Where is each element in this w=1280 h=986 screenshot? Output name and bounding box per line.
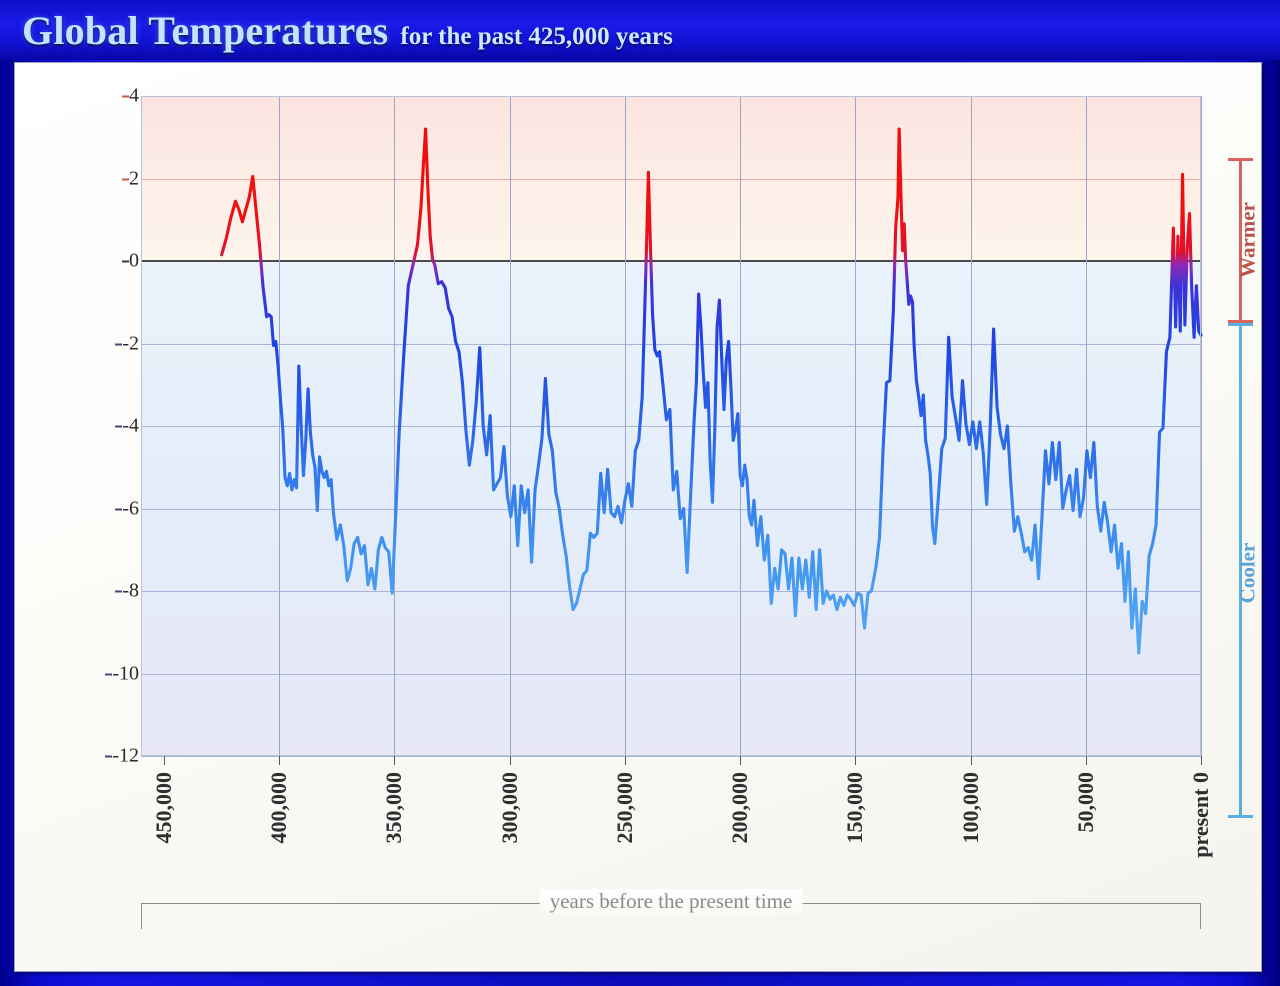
title-main-text: Global Temperatures <box>22 7 388 54</box>
title-subtitle-text: for the past 425,000 years <box>400 23 672 51</box>
gridline-x-0 <box>1201 96 1202 756</box>
window-frame: Global Temperatures for the past 425,000… <box>0 0 1280 986</box>
y-tick-label--6: -6 <box>122 497 139 520</box>
x-tick-label-200000: 200,000 <box>727 772 753 844</box>
x-tick-label-100000: 100,000 <box>958 772 984 844</box>
x-tick-label-450000: 450,000 <box>151 772 177 844</box>
cooler-bracket: Cooler <box>1239 323 1242 818</box>
cooler-label: Cooler <box>1236 543 1261 604</box>
gridline-y--12 <box>141 756 1201 757</box>
y-tick-label--4: -4 <box>122 415 139 438</box>
y-tick-mark--4 <box>115 426 122 428</box>
temperature-line-series <box>141 96 1201 756</box>
y-tick-mark--2 <box>115 343 122 345</box>
x-tick-label-400000: 400,000 <box>266 772 292 844</box>
y-tick-mark--6 <box>115 508 122 510</box>
chart-panel: Temperature variation from the 1961 – 19… <box>14 62 1262 972</box>
y-tick-label--8: -8 <box>122 580 139 603</box>
x-tick-mark-400000 <box>279 756 280 765</box>
warmer-bracket-top-cap <box>1228 158 1253 161</box>
x-tick-mark-0 <box>1201 756 1202 765</box>
x-axis-caption-text: years before the present time <box>540 889 803 914</box>
x-tick-label-50000: 50,000 <box>1073 772 1099 833</box>
y-tick-label--12: -12 <box>112 745 139 768</box>
y-tick-mark--8 <box>115 591 122 593</box>
x-tick-label-300000: 300,000 <box>497 772 523 844</box>
x-tick-mark-300000 <box>510 756 511 765</box>
y-tick-label-2: 2 <box>129 167 139 190</box>
y-tick-label-4: 4 <box>129 85 139 108</box>
y-tick-label-0: 0 <box>129 250 139 273</box>
cooler-bracket-top-cap <box>1228 323 1253 326</box>
caption-end-right <box>1200 903 1201 929</box>
warmer-bracket: Warmer <box>1239 158 1242 323</box>
x-tick-label-250000: 250,000 <box>612 772 638 844</box>
warmer-label: Warmer <box>1236 202 1261 278</box>
y-tick-mark-2 <box>122 178 129 180</box>
y-tick-label--10: -10 <box>112 662 139 685</box>
x-tick-label-0: present 0 <box>1188 772 1214 858</box>
x-tick-mark-350000 <box>394 756 395 765</box>
temperature-direction-brackets: Warmer Cooler <box>1227 158 1271 818</box>
x-tick-mark-450000 <box>164 756 165 765</box>
cooler-bracket-bottom-cap <box>1228 815 1253 818</box>
caption-end-left <box>141 903 142 929</box>
x-tick-label-350000: 350,000 <box>381 772 407 844</box>
x-tick-mark-150000 <box>855 756 856 765</box>
x-tick-label-150000: 150,000 <box>842 772 868 844</box>
y-tick-mark--12 <box>105 756 112 758</box>
x-tick-mark-50000 <box>1086 756 1087 765</box>
plot-area: 420-2-4-6-8-10-12 <box>141 96 1201 756</box>
x-tick-mark-200000 <box>740 756 741 765</box>
y-tick-label--2: -2 <box>122 332 139 355</box>
y-tick-mark-0 <box>122 261 129 263</box>
y-tick-mark-4 <box>122 96 129 98</box>
page-title: Global Temperatures for the past 425,000… <box>22 7 673 54</box>
title-bar: Global Temperatures for the past 425,000… <box>0 0 1280 60</box>
x-axis-caption: years before the present time <box>141 889 1201 919</box>
x-tick-mark-250000 <box>625 756 626 765</box>
y-tick-mark--10 <box>105 673 112 675</box>
x-tick-mark-100000 <box>971 756 972 765</box>
